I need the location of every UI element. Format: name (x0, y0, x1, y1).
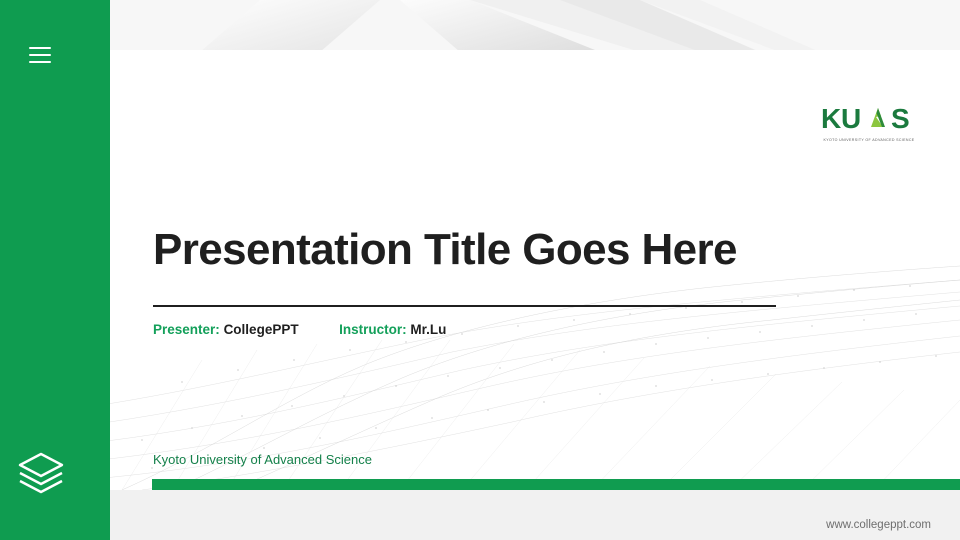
site-url-label: www.collegeppt.com (826, 519, 931, 531)
slide-canvas: K U S KYOTO UNIVERSITY OF ADVANCED SCIEN… (82, 50, 960, 490)
left-sidebar (0, 0, 110, 540)
page-title: Presentation Title Goes Here (153, 225, 737, 275)
presentation-preview: K U S KYOTO UNIVERSITY OF ADVANCED SCIEN… (0, 0, 960, 540)
slide-footer-text: Kyoto University of Advanced Science (153, 452, 372, 467)
layers-stack-icon[interactable] (16, 448, 66, 498)
instructor-label: Instructor: (339, 322, 407, 337)
svg-text:S: S (891, 103, 909, 133)
presenter-value: CollegePPT (224, 322, 299, 337)
instructor-value: Mr.Lu (410, 322, 446, 337)
kuas-logo-tagline: KYOTO UNIVERSITY OF ADVANCED SCIENCE (821, 138, 917, 142)
hamburger-bar (29, 61, 51, 63)
presenter-label: Presenter: (153, 322, 220, 337)
kuas-wordmark-graphic: K U S (821, 103, 917, 133)
svg-text:U: U (841, 103, 861, 133)
byline: Presenter: CollegePPT Instructor: Mr.Lu (153, 322, 446, 337)
hamburger-bar (29, 54, 51, 56)
hamburger-bar (29, 47, 51, 49)
kuas-wordmark: K U S (821, 103, 917, 135)
hamburger-menu-icon[interactable] (29, 47, 51, 64)
title-divider-rule (153, 305, 776, 307)
slide-bottom-accent-bar (152, 479, 960, 490)
kuas-logo: K U S KYOTO UNIVERSITY OF ADVANCED SCIEN… (821, 103, 917, 142)
svg-text:K: K (821, 103, 841, 133)
